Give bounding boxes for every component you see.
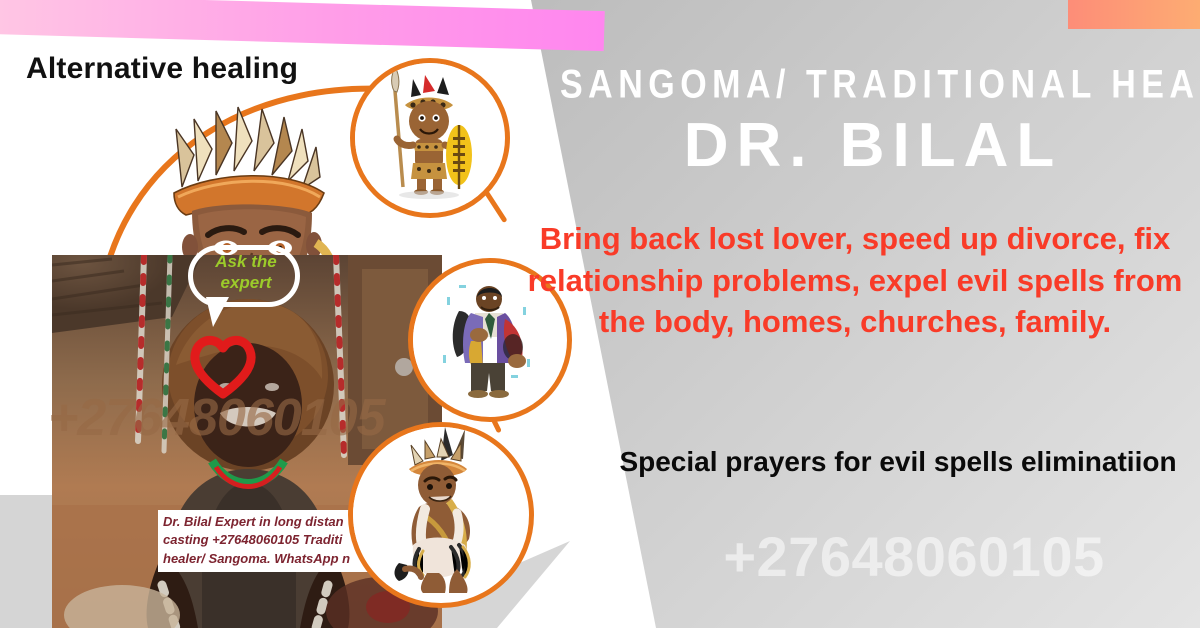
badge-crouching-dancer[interactable]	[348, 422, 534, 608]
orange-gradient-bar	[1068, 0, 1200, 29]
kicker-heading: SANGOMA/ TRADITIONAL HEALER	[560, 62, 1186, 108]
poster-canvas: Alternative healing	[0, 0, 1200, 628]
badge-zulu-warrior[interactable]	[350, 58, 510, 218]
page-title: Alternative healing	[26, 52, 298, 86]
services-pitch: Bring back lost lover, speed up divorce,…	[524, 218, 1186, 343]
caption-line-3: healer/ Sangoma. WhatsApp n	[163, 550, 384, 568]
grey-strip-bottom-left	[0, 495, 52, 628]
speech-bubble-tail	[206, 297, 229, 327]
crouching-dancer-icon	[353, 427, 519, 593]
speech-bubble-text: Ask the expert	[198, 251, 294, 294]
brand-name: DR. BILAL	[560, 110, 1186, 181]
special-prayers-text: Special prayers for evil spells eliminat…	[610, 443, 1186, 480]
pink-gradient-bar	[0, 0, 605, 51]
phone-watermark-right: +27648060105	[640, 524, 1188, 589]
zulu-warrior-icon	[355, 63, 495, 203]
heart-icon	[186, 330, 260, 400]
speech-bubble: Ask the expert	[188, 245, 300, 307]
